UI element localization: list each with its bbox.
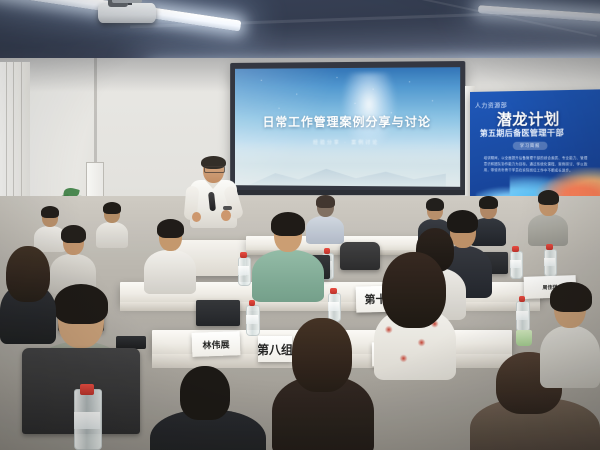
ceiling-projector-icon <box>98 3 156 23</box>
water-bottle-6 <box>328 288 339 322</box>
attendee-far-5 <box>96 204 128 246</box>
presenter-right-hand <box>221 210 231 221</box>
presenter-glasses-icon <box>204 166 225 173</box>
ceiling-light-tube-3 <box>478 5 600 23</box>
projection-screen: 日常工作管理案例分享与讨论 经验分享 · 案例讨论 <box>235 67 460 187</box>
attendee-near-4 <box>272 318 374 450</box>
slide-subtitle: 经验分享 · 案例讨论 <box>235 139 460 146</box>
water-bottle-8 <box>74 384 100 450</box>
water-bottle-3 <box>510 246 521 279</box>
attendee-far-4 <box>528 192 568 244</box>
attendee-near-2 <box>0 250 56 340</box>
placard-name-1: 林伟展 <box>192 331 241 357</box>
water-bottle-4 <box>544 244 555 277</box>
green-cup <box>516 330 532 346</box>
attendee-mid-1 <box>50 228 96 292</box>
laptop-3 <box>196 300 240 326</box>
attendee-near-5 <box>374 258 456 376</box>
presenter-left-hand <box>192 212 201 222</box>
meeting-room-photo: 日常工作管理案例分享与讨论 经验分享 · 案例讨论 人力资源部 潜龙计划 第五期… <box>0 0 600 450</box>
slide-title: 日常工作管理案例分享与讨论 <box>235 113 460 130</box>
presenter-wristwatch <box>223 206 232 210</box>
attendee-mid-3 <box>252 216 324 300</box>
projector-mount <box>112 0 142 3</box>
water-bottle-1 <box>238 252 249 286</box>
water-bottle-5 <box>246 300 258 336</box>
projection-screen-bottom-bar <box>226 190 466 195</box>
slide-mountain-horizon <box>235 142 460 187</box>
projection-screen-frame: 日常工作管理案例分享与讨论 经验分享 · 案例讨论 <box>230 61 465 195</box>
attendee-mid-2 <box>144 222 196 292</box>
attendee-near-7 <box>540 286 600 382</box>
placard-name-1-text: 林伟展 <box>202 337 229 351</box>
banner-subtitle: 第五期后备医管理干部 <box>480 127 564 139</box>
banner-pill-label: 学习简报 <box>513 142 548 150</box>
water-bottle-7 <box>516 296 528 332</box>
attendee-near-3 <box>150 366 266 450</box>
